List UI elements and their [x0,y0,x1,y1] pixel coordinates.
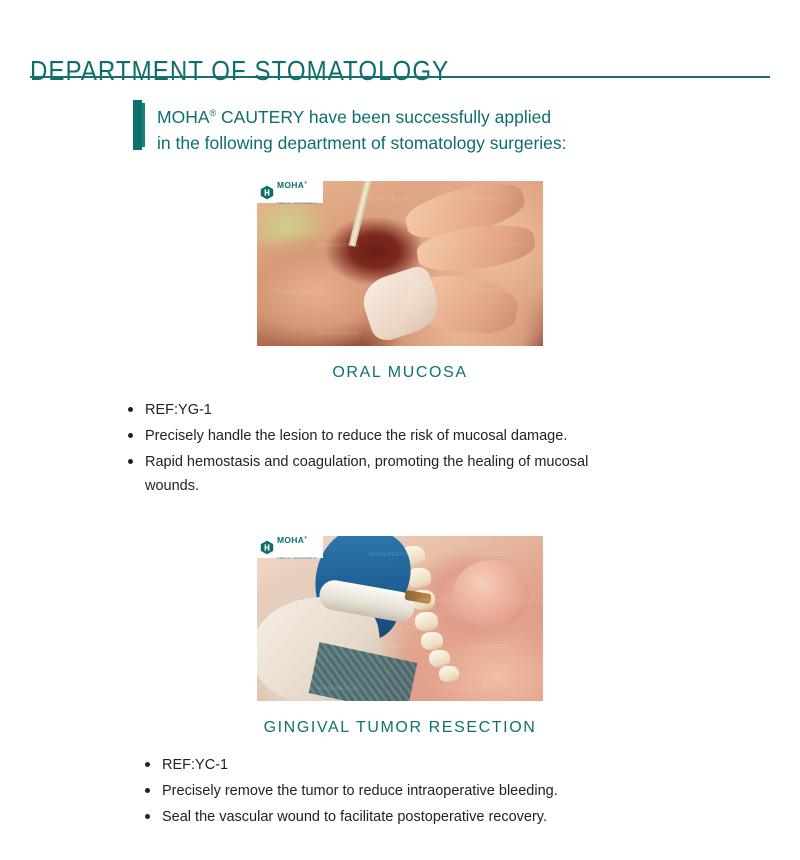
list-item: Precisely remove the tumor to reduce int… [145,779,800,803]
suction-tool-shape [349,181,373,247]
list-item: Seal the vascular wound to facilitate po… [145,805,800,829]
intro-line-2: in the following department of stomatolo… [157,130,567,156]
case-bullet-list: REF:YG-1 Precisely handle the lesion to … [0,398,800,498]
moha-logo-tagline: MEDICAL INSTRUMENTS [277,201,317,205]
moha-logo-badge: MOHA® MEDICAL INSTRUMENTS [257,536,323,558]
title-divider [30,76,770,78]
moha-hexagon-icon [260,540,274,555]
accent-bar [133,100,142,150]
list-item: Precisely handle the lesion to reduce th… [128,424,800,448]
clinical-photo-oral-mucosa: MOHA MEDICAL MOHA MEDICAL MOHA MEDICAL M… [257,181,543,346]
list-item: REF:YC-1 [145,753,800,777]
intro-block: MOHA® CAUTERY have been successfully app… [133,100,567,156]
page-title: DEPARTMENT OF STOMATOLOGY [30,55,449,87]
moha-logo-badge: MOHA® MEDICAL INSTRUMENTS [257,181,323,203]
moha-logo-name: MOHA® [277,536,307,545]
moha-logo-text: MOHA® MEDICAL INSTRUMENTS [277,181,323,208]
clinical-photo-gingival-tumor: MOHA MEDICAL MOHA MEDICAL MOHA MEDICAL M… [257,536,543,701]
case-caption: GINGIVAL TUMOR RESECTION [0,719,800,737]
photo-container: MOHA MEDICAL MOHA MEDICAL MOHA MEDICAL M… [257,181,543,346]
intro-line-1: MOHA® CAUTERY have been successfully app… [157,100,567,130]
list-item: Rapid hemostasis and coagulation, promot… [128,450,645,498]
moha-logo-tagline: MEDICAL INSTRUMENTS [277,556,317,560]
case-section-gingival-tumor-resection: MOHA MEDICAL MOHA MEDICAL MOHA MEDICAL M… [0,536,800,831]
gauze-shape [357,263,445,344]
case-section-oral-mucosa: MOHA MEDICAL MOHA MEDICAL MOHA MEDICAL M… [0,181,800,500]
case-bullet-list: REF:YC-1 Precisely remove the tumor to r… [0,753,800,829]
photo-container: MOHA MEDICAL MOHA MEDICAL MOHA MEDICAL M… [257,536,543,701]
moha-logo-text: MOHA® MEDICAL INSTRUMENTS [277,536,323,563]
list-item: REF:YG-1 [128,398,800,422]
case-caption: ORAL MUCOSA [0,364,800,382]
moha-hexagon-icon [260,185,274,200]
brand-name: MOHA [157,107,210,127]
intro-text: MOHA® CAUTERY have been successfully app… [157,100,567,156]
moha-logo-name: MOHA® [277,181,307,190]
intro-line-1-rest: CAUTERY have been successfully applied [216,107,551,127]
